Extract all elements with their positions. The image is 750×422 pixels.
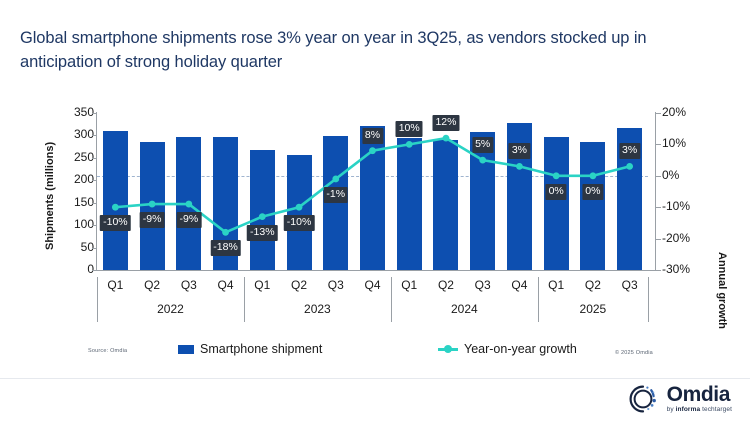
omdia-swirl-icon — [626, 382, 660, 416]
y-tick-right: 10% — [662, 136, 708, 150]
growth-point — [222, 229, 229, 236]
y-tick-mark-right — [656, 144, 661, 145]
growth-point — [112, 204, 119, 211]
x-tick-quarter: Q1 — [242, 278, 282, 292]
omdia-tagline: by informa techtarget — [667, 407, 732, 414]
y-tick-mark-right — [656, 207, 661, 208]
y-tick-mark-right — [656, 113, 661, 114]
y-tick-left: 0 — [54, 262, 94, 276]
growth-point — [479, 157, 486, 164]
copyright-note: © 2025 Omdia — [615, 350, 653, 356]
y-tick-right: -30% — [662, 262, 708, 276]
y-tick-left: 150 — [54, 195, 94, 209]
growth-point — [369, 147, 376, 154]
legend-item-growth[interactable]: Year-on-year growth — [438, 342, 577, 356]
x-tick-quarter: Q4 — [206, 278, 246, 292]
legend-label-growth: Year-on-year growth — [464, 342, 577, 356]
x-tick-quarter: Q2 — [132, 278, 172, 292]
source-note: Source: Omdia — [88, 348, 127, 354]
growth-data-label: 3% — [619, 143, 640, 159]
growth-data-label: 8% — [362, 128, 383, 144]
growth-point — [296, 204, 303, 211]
y-tick-right: 20% — [662, 105, 708, 119]
growth-point — [516, 163, 523, 170]
y-tick-left: 350 — [54, 105, 94, 119]
x-axis-year-label: 2025 — [553, 302, 633, 316]
growth-point — [443, 135, 450, 142]
growth-point — [259, 213, 266, 220]
y-tick-right: -20% — [662, 231, 708, 245]
legend-item-shipment[interactable]: Smartphone shipment — [178, 342, 322, 356]
x-tick-quarter: Q4 — [499, 278, 539, 292]
year-group-separator — [244, 277, 245, 322]
y-tick-right: 0% — [662, 168, 708, 182]
year-group-separator — [97, 277, 98, 322]
x-tick-quarter: Q1 — [95, 278, 135, 292]
x-axis-year-label: 2023 — [277, 302, 357, 316]
growth-point — [553, 172, 560, 179]
growth-data-label: 3% — [509, 143, 530, 159]
growth-point — [149, 201, 156, 208]
y-tick-left: 250 — [54, 150, 94, 164]
growth-data-label: 10% — [396, 121, 423, 137]
line-marker-icon — [438, 344, 458, 354]
growth-point — [590, 172, 597, 179]
y-tick-mark-right — [656, 176, 661, 177]
growth-data-label: 0% — [582, 184, 603, 200]
x-tick-quarter: Q3 — [316, 278, 356, 292]
omdia-wordmark: Omdia by informa techtarget — [667, 384, 732, 414]
y-tick-mark-right — [656, 270, 661, 271]
y-tick-right: -10% — [662, 199, 708, 213]
growth-data-label: 12% — [432, 115, 459, 131]
x-tick-quarter: Q3 — [463, 278, 503, 292]
x-tick-quarter: Q4 — [353, 278, 393, 292]
y-tick-mark-right — [656, 239, 661, 240]
x-tick-quarter: Q2 — [573, 278, 613, 292]
growth-data-label: -10% — [284, 215, 315, 231]
year-group-separator — [538, 277, 539, 322]
year-group-separator — [391, 277, 392, 322]
growth-data-label: -1% — [323, 187, 348, 203]
growth-data-label: -9% — [176, 212, 201, 228]
growth-point — [626, 163, 633, 170]
y-tick-left: 300 — [54, 127, 94, 141]
x-tick-quarter: Q2 — [279, 278, 319, 292]
page-title: Global smartphone shipments rose 3% year… — [20, 26, 710, 74]
x-tick-quarter: Q1 — [536, 278, 576, 292]
x-tick-quarter: Q3 — [169, 278, 209, 292]
y-tick-left: 100 — [54, 217, 94, 231]
x-tick-quarter: Q2 — [426, 278, 466, 292]
y-tick-left: 200 — [54, 172, 94, 186]
bar-swatch-icon — [178, 345, 194, 354]
growth-data-label: 5% — [472, 137, 493, 153]
growth-data-label: -10% — [100, 215, 131, 231]
chart-page: Global smartphone shipments rose 3% year… — [0, 0, 750, 422]
x-axis-year-label: 2022 — [130, 302, 210, 316]
x-axis-line — [96, 270, 656, 271]
x-tick-quarter: Q3 — [610, 278, 650, 292]
growth-point — [332, 176, 339, 183]
year-group-separator — [648, 277, 649, 322]
growth-point — [406, 141, 413, 148]
growth-data-label: -13% — [247, 225, 278, 241]
y-axis-right-line — [655, 112, 656, 271]
x-axis-year-label: 2024 — [424, 302, 504, 316]
omdia-name: Omdia — [667, 384, 732, 405]
footer-divider — [0, 378, 750, 379]
growth-data-label: 0% — [546, 184, 567, 200]
y-tick-left: 50 — [54, 240, 94, 254]
x-axis-labels: Q1Q2Q3Q4Q1Q2Q3Q4Q1Q2Q3Q4Q1Q2Q32022202320… — [0, 278, 750, 326]
omdia-logo: Omdia by informa techtarget — [626, 382, 732, 416]
growth-data-label: -9% — [140, 212, 165, 228]
growth-data-label: -18% — [210, 240, 241, 256]
x-tick-quarter: Q1 — [389, 278, 429, 292]
legend-label-shipment: Smartphone shipment — [200, 342, 322, 356]
growth-point — [185, 201, 192, 208]
